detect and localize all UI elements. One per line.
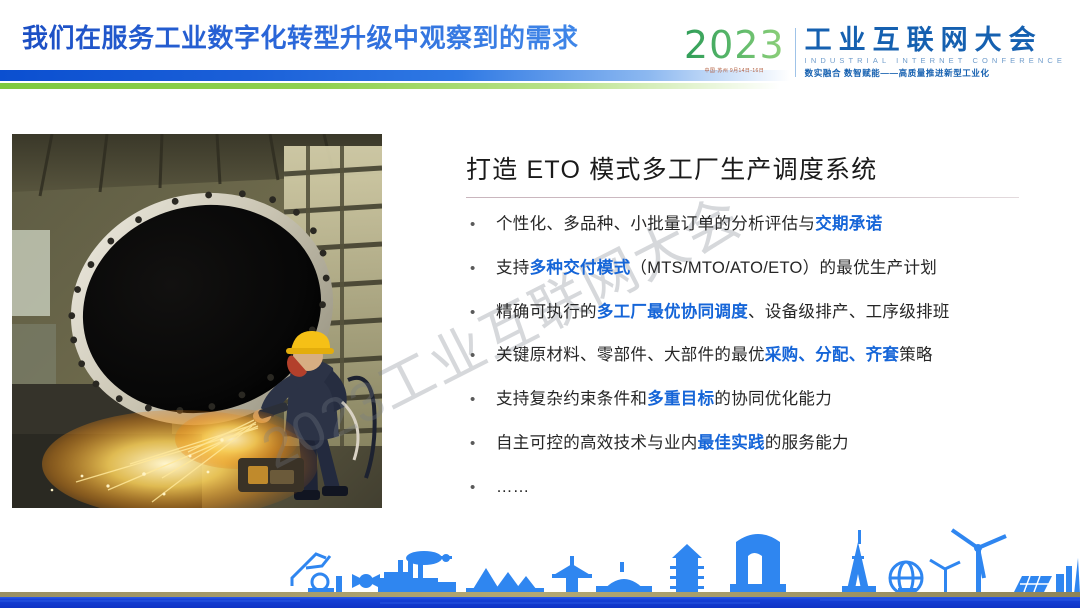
logo-title: 工业互联网大会 bbox=[805, 26, 1066, 54]
bullet-highlight: 多重目标 bbox=[647, 390, 714, 408]
bullet-plain: 的服务能力 bbox=[765, 434, 849, 452]
bullet-text: 个性化、多品种、小批量订单的分析评估与交期承诺 bbox=[496, 214, 882, 235]
bullet-marker-icon: • bbox=[466, 435, 496, 454]
bullet-text: 自主可控的高效技术与业内最佳实践的服务能力 bbox=[496, 433, 849, 454]
logo-text-block: 工业互联网大会 INDUSTRIAL INTERNET CONFERENCE 数… bbox=[805, 26, 1066, 79]
content-heading-rule bbox=[466, 197, 1019, 198]
bullet-plain: 自主可控的高效技术与业内 bbox=[496, 434, 698, 452]
bullet-plain: 支持 bbox=[496, 259, 530, 277]
bullet-text: 精确可执行的多工厂最优协同调度、设备级排产、工序级排班 bbox=[496, 302, 950, 323]
bullet-plain: …… bbox=[496, 478, 530, 496]
logo-divider bbox=[795, 28, 796, 77]
header-divider-green bbox=[0, 83, 780, 89]
conference-logo: 2023 中国·苏州 9月14日-16日 工业互联网大会 INDUSTRIAL … bbox=[684, 26, 1066, 79]
bullet-marker-icon: • bbox=[466, 391, 496, 410]
bullet-highlight: 采购、分配、齐套 bbox=[765, 346, 899, 364]
logo-year-block: 2023 中国·苏州 9月14日-16日 bbox=[684, 26, 795, 74]
bullet-plain: 的协同优化能力 bbox=[714, 390, 832, 408]
bullet-item: •自主可控的高效技术与业内最佳实践的服务能力 bbox=[466, 433, 1066, 454]
bullet-plain: 个性化、多品种、小批量订单的分析评估与 bbox=[496, 215, 815, 233]
bullet-text: …… bbox=[496, 477, 530, 498]
photo-illustration bbox=[12, 134, 382, 508]
bullet-plain: 关键原材料、零部件、大部件的最优 bbox=[496, 346, 765, 364]
bullet-list: •个性化、多品种、小批量订单的分析评估与交期承诺•支持多种交付模式（MTS/MT… bbox=[466, 214, 1066, 497]
content-heading: 打造 ETO 模式多工厂生产调度系统 bbox=[466, 150, 1066, 186]
bullet-plain: 策略 bbox=[899, 346, 933, 364]
bullet-text: 支持多种交付模式（MTS/MTO/ATO/ETO）的最优生产计划 bbox=[496, 258, 937, 279]
bullet-text: 支持复杂约束条件和多重目标的协同优化能力 bbox=[496, 389, 832, 410]
logo-year: 2023 bbox=[684, 26, 785, 64]
bullet-text: 关键原材料、零部件、大部件的最优采购、分配、齐套策略 bbox=[496, 345, 933, 366]
slide: 我们在服务工业数字化转型升级中观察到的需求 2023 中国·苏州 9月14日-1… bbox=[0, 0, 1080, 608]
bullet-marker-icon: • bbox=[466, 260, 496, 279]
bullet-plain: 、设备级排产、工序级排班 bbox=[748, 303, 950, 321]
bullet-marker-icon: • bbox=[466, 347, 496, 366]
logo-year-subtitle: 中国·苏州 9月14日-16日 bbox=[704, 67, 764, 74]
bullet-marker-icon: • bbox=[466, 479, 496, 498]
bullet-marker-icon: • bbox=[466, 216, 496, 235]
bullet-item: •精确可执行的多工厂最优协同调度、设备级排产、工序级排班 bbox=[466, 302, 1066, 323]
page-title: 我们在服务工业数字化转型升级中观察到的需求 bbox=[22, 18, 579, 55]
bullet-item: •支持复杂约束条件和多重目标的协同优化能力 bbox=[466, 389, 1066, 410]
logo-english-subtitle: INDUSTRIAL INTERNET CONFERENCE bbox=[805, 56, 1066, 65]
bullet-item: •…… bbox=[466, 477, 1066, 498]
bullet-item: •支持多种交付模式（MTS/MTO/ATO/ETO）的最优生产计划 bbox=[466, 258, 1066, 279]
bullet-plain: 精确可执行的 bbox=[496, 303, 597, 321]
header-divider-blue bbox=[0, 70, 790, 81]
bullet-item: •关键原材料、零部件、大部件的最优采购、分配、齐套策略 bbox=[466, 345, 1066, 366]
bullet-highlight: 多种交付模式 bbox=[530, 259, 631, 277]
footer-skyline bbox=[0, 516, 1080, 608]
logo-chinese-subtitle: 数实融合 数智赋能——高质量推进新型工业化 bbox=[805, 67, 1066, 79]
factory-worker-grinding-steel-flange-photo bbox=[12, 134, 382, 508]
city-industry-skyline-silhouette bbox=[0, 516, 1080, 608]
bullet-highlight: 多工厂最优协同调度 bbox=[597, 303, 748, 321]
bullet-highlight: 交期承诺 bbox=[815, 215, 882, 233]
content-panel: 打造 ETO 模式多工厂生产调度系统 •个性化、多品种、小批量订单的分析评估与交… bbox=[466, 150, 1066, 520]
bullet-plain: （MTS/MTO/ATO/ETO）的最优生产计划 bbox=[630, 259, 937, 277]
bullet-highlight: 最佳实践 bbox=[698, 434, 765, 452]
bullet-marker-icon: • bbox=[466, 304, 496, 323]
bullet-item: •个性化、多品种、小批量订单的分析评估与交期承诺 bbox=[466, 214, 1066, 235]
bullet-plain: 支持复杂约束条件和 bbox=[496, 390, 647, 408]
